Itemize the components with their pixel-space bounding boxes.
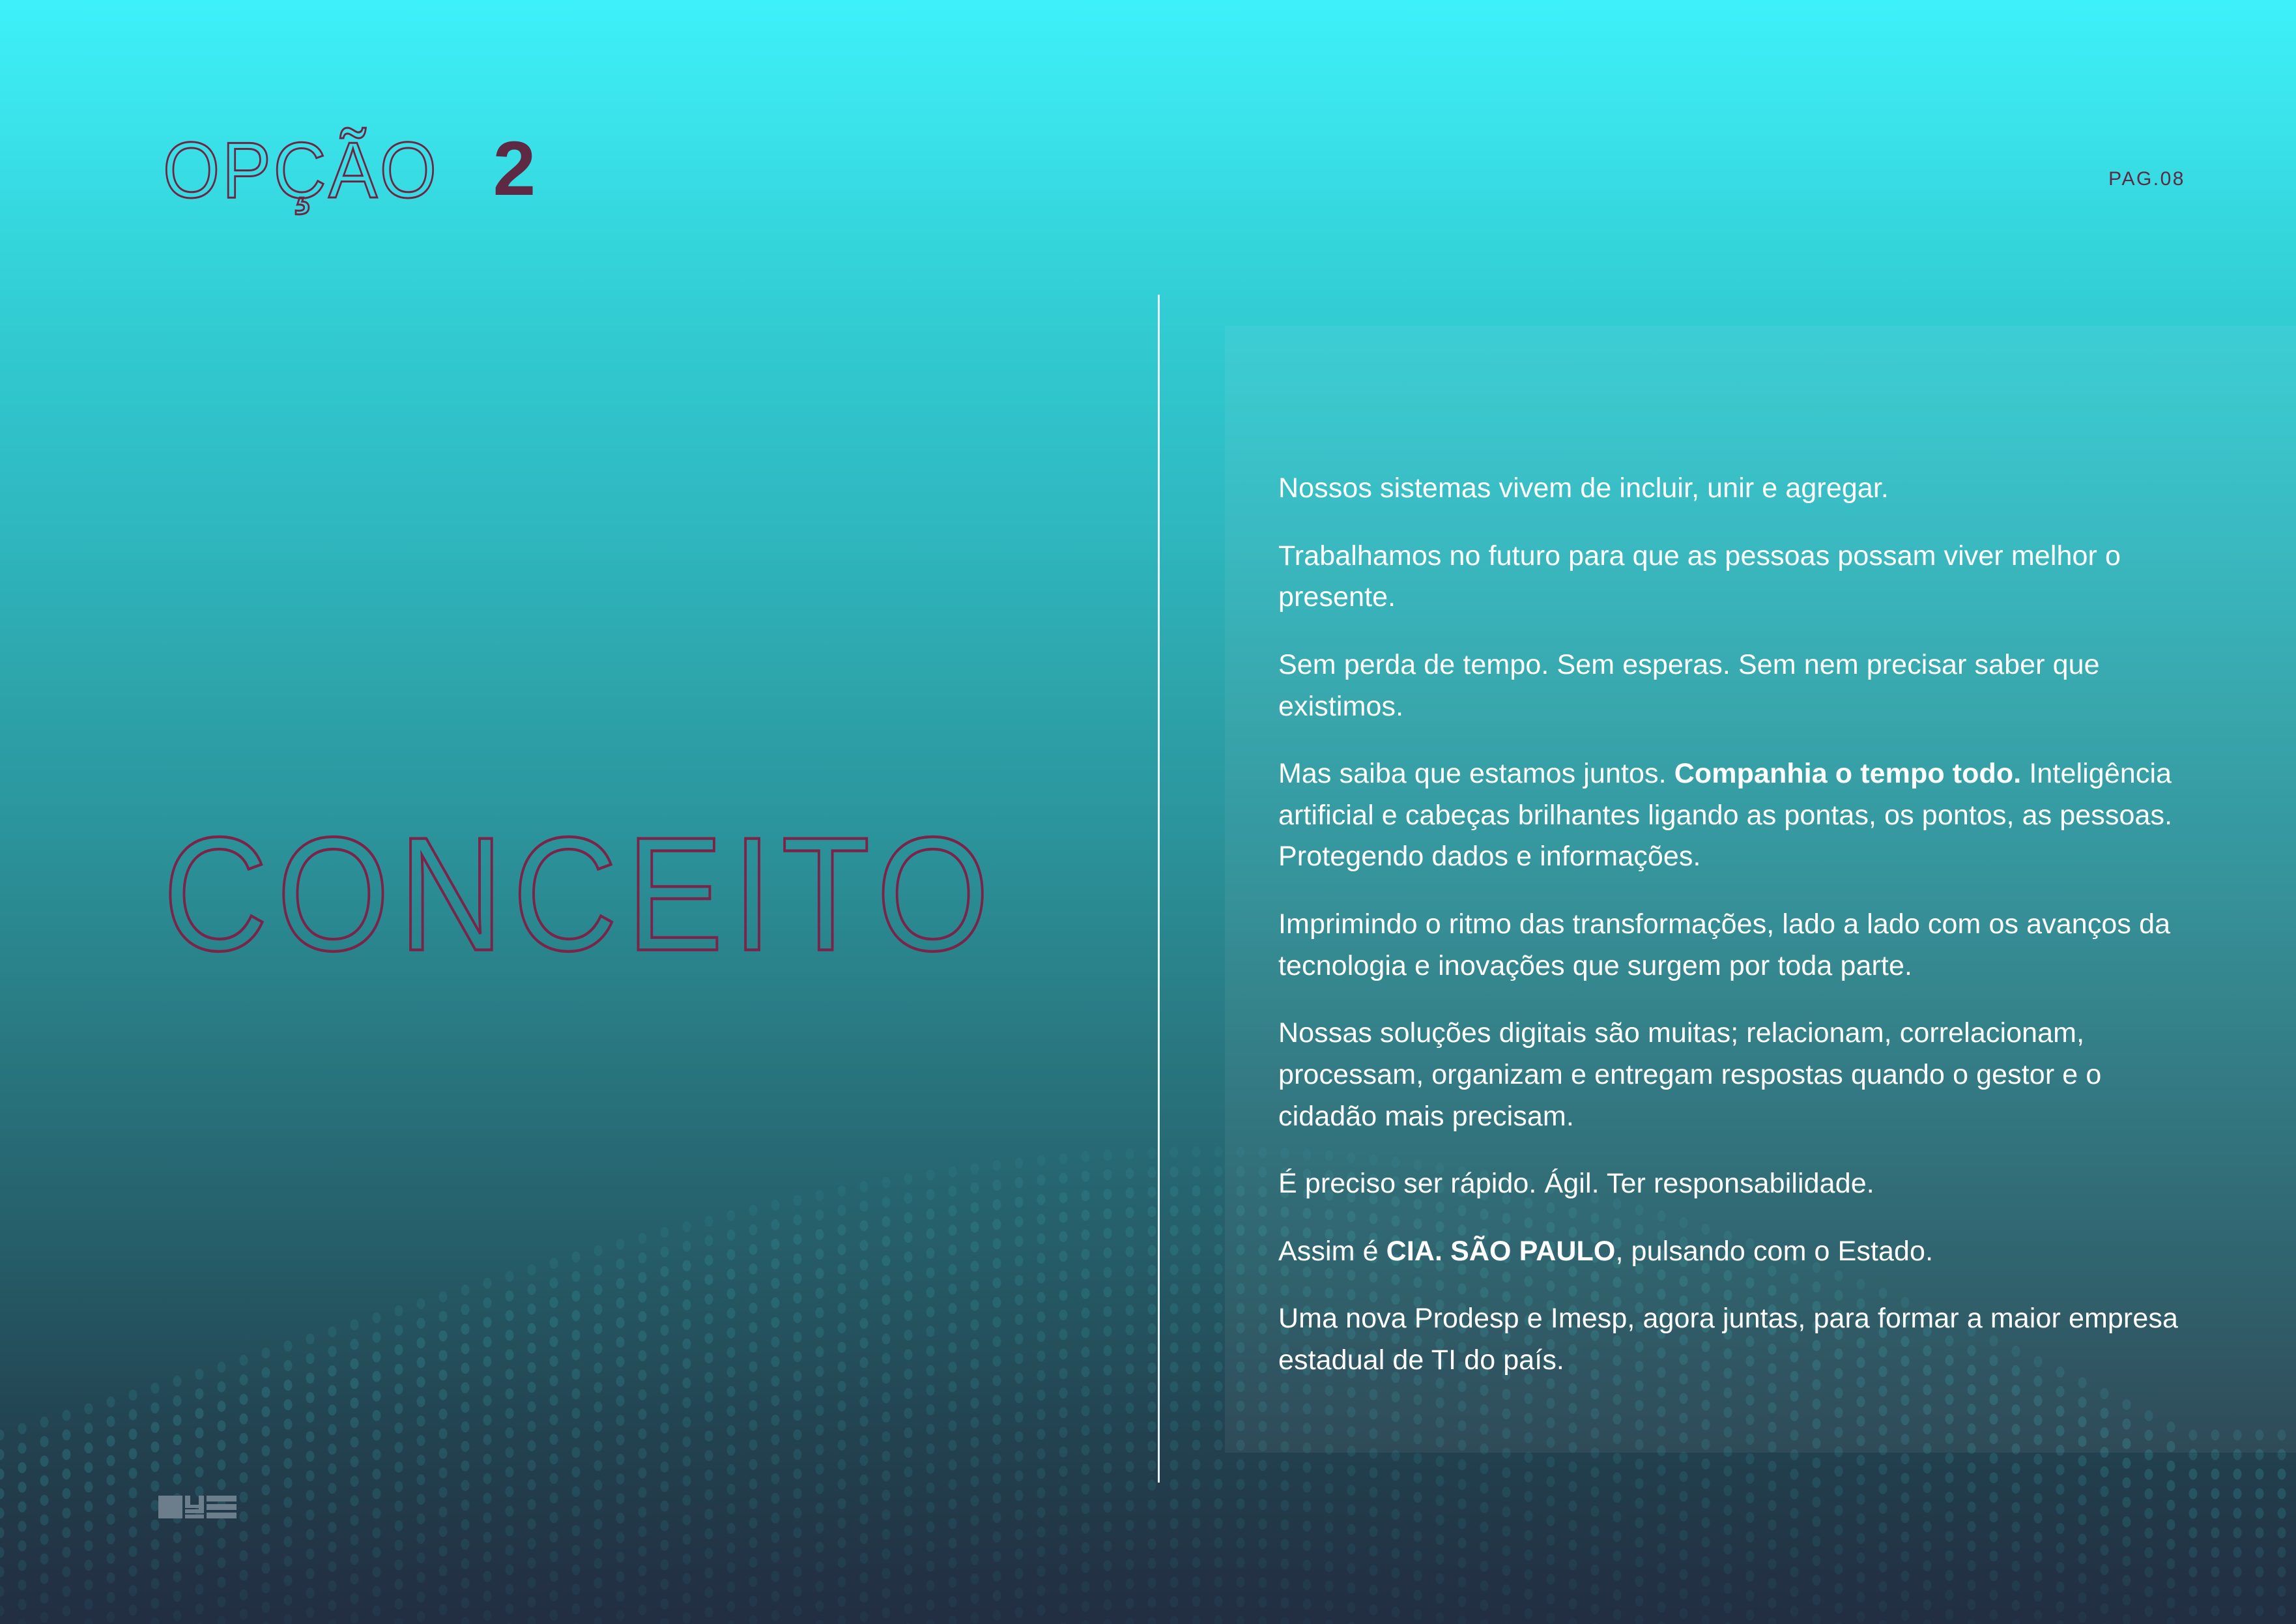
emphasis-text: CIA. SÃO PAULO	[1386, 1236, 1616, 1267]
paragraph-text: Trabalhamos no futuro para que as pessoa…	[1278, 540, 2129, 613]
body-paragraph: Assim é CIA. SÃO PAULO, pulsando com o E…	[1278, 1231, 2190, 1273]
paragraph-text: Mas saiba que estamos juntos.	[1278, 758, 1674, 789]
hero-wordmark: CONCEITO	[163, 813, 998, 975]
paragraph-text: Nossas soluções digitais são muitas; rel…	[1278, 1017, 2109, 1131]
body-paragraph: Uma nova Prodesp e Imesp, agora juntas, …	[1278, 1298, 2190, 1381]
emphasis-text: Companhia o tempo todo.	[1674, 758, 2022, 789]
paragraph-text: Assim é	[1278, 1236, 1386, 1267]
body-paragraph: Trabalhamos no futuro para que as pessoa…	[1278, 536, 2190, 618]
body-paragraph: Nossas soluções digitais são muitas; rel…	[1278, 1013, 2190, 1137]
oye-logo-icon	[158, 1496, 237, 1518]
page-marker: PAG.08	[2108, 168, 2185, 190]
body-paragraph: Mas saiba que estamos juntos. Companhia …	[1278, 753, 2190, 878]
body-copy: Nossos sistemas vivem de incluir, unir e…	[1278, 468, 2190, 1382]
body-paragraph: É preciso ser rápido. Ágil. Ter responsa…	[1278, 1163, 2190, 1205]
body-paragraph: Sem perda de tempo. Sem esperas. Sem nem…	[1278, 645, 2190, 727]
paragraph-text: Imprimindo o ritmo das transformações, l…	[1278, 908, 2178, 981]
vertical-divider	[1158, 295, 1160, 1483]
paragraph-text: Uma nova Prodesp e Imesp, agora juntas, …	[1278, 1303, 2186, 1376]
body-paragraph: Nossos sistemas vivem de incluir, unir e…	[1278, 468, 2190, 510]
option-number: 2	[493, 130, 536, 207]
option-word: OPÇÃO	[163, 130, 439, 210]
option-title: OPÇÃO 2	[163, 130, 536, 210]
paragraph-text: Nossos sistemas vivem de incluir, unir e…	[1278, 472, 1889, 504]
slide-header: OPÇÃO 2 PAG.08	[0, 0, 2296, 261]
paragraph-text: , pulsando com o Estado.	[1615, 1236, 1933, 1267]
body-paragraph: Imprimindo o ritmo das transformações, l…	[1278, 904, 2190, 987]
paragraph-text: Sem perda de tempo. Sem esperas. Sem nem…	[1278, 649, 2108, 722]
paragraph-text: É preciso ser rápido. Ágil. Ter responsa…	[1278, 1168, 1874, 1199]
presentation-slide: OPÇÃO 2 PAG.08 CONCEITO Nossos sistemas …	[0, 0, 2296, 1624]
